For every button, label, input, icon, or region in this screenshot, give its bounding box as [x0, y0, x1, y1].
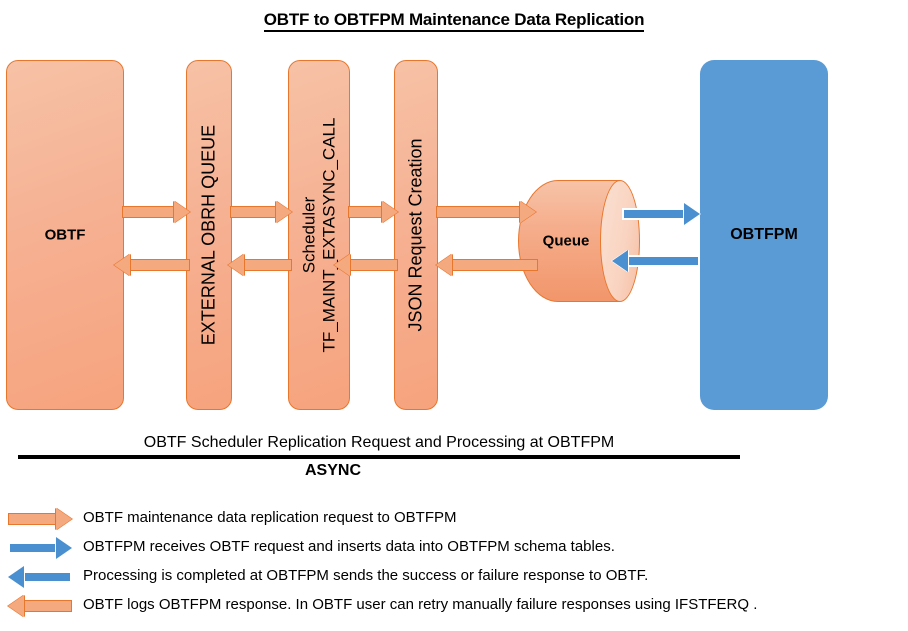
arrow-shaft	[230, 206, 278, 218]
node-obtf-label: OBTF	[45, 226, 86, 243]
node-queue-cylinder[interactable]: Queue	[518, 180, 640, 302]
arrow-scheduler-to-json	[348, 201, 398, 223]
arrow-head	[520, 201, 536, 223]
arrow-json-to-queue	[436, 201, 536, 223]
arrow-obtfpm-to-queue	[612, 250, 700, 272]
legend-item-label: OBTF maintenance data replication reques…	[83, 505, 457, 531]
node-obtf[interactable]: OBTF	[6, 60, 124, 410]
arrow-head	[56, 508, 72, 530]
orange-right-arrow-icon	[8, 508, 72, 530]
arrow-shaft	[450, 259, 538, 271]
arrow-shaft	[348, 206, 384, 218]
arrow-shaft	[22, 600, 72, 612]
arrow-shaft	[348, 259, 398, 271]
node-queue-label: Queue	[543, 233, 590, 250]
arrow-head	[8, 595, 24, 617]
legend-item-label: OBTF logs OBTFPM response. In OBTF user …	[83, 592, 757, 618]
arrow-shaft	[436, 206, 522, 218]
arrow-shaft	[8, 513, 58, 525]
caption-divider	[18, 455, 740, 459]
legend-item: OBTFPM receives OBTF request and inserts…	[0, 534, 908, 563]
arrow-shaft	[8, 542, 58, 554]
blue-left-arrow-icon	[8, 566, 72, 588]
arrow-head	[612, 250, 628, 272]
legend-item: OBTF maintenance data replication reques…	[0, 505, 908, 534]
node-scheduler-label-line1: Scheduler	[299, 197, 318, 274]
node-obtfpm-label: OBTFPM	[730, 226, 798, 244]
node-scheduler[interactable]: Scheduler TF_MAINT_EXTASYNC_CALL	[288, 60, 350, 410]
arrow-head	[56, 537, 72, 559]
node-json-request-creation[interactable]: JSON Request Creation	[394, 60, 438, 410]
arrow-json-to-scheduler	[334, 254, 398, 276]
node-external-obrh-queue-label: EXTERNAL OBRH QUEUE	[199, 125, 220, 345]
node-scheduler-label-line2: TF_MAINT_EXTASYNC_CALL	[319, 118, 338, 353]
arrow-obrh-to-obtf	[114, 254, 190, 276]
legend-item: Processing is completed at OBTFPM sends …	[0, 563, 908, 592]
arrow-queue-to-obtfpm	[622, 203, 700, 225]
arrow-obtf-to-obrh	[122, 201, 190, 223]
arrow-shaft	[622, 208, 686, 220]
legend: OBTF maintenance data replication reques…	[0, 505, 908, 621]
node-external-obrh-queue[interactable]: EXTERNAL OBRH QUEUE	[186, 60, 232, 410]
arrow-head	[8, 566, 24, 588]
arrow-head	[684, 203, 700, 225]
arrow-head	[276, 201, 292, 223]
arrow-shaft	[122, 206, 176, 218]
caption-primary: OBTF Scheduler Replication Request and P…	[18, 434, 740, 452]
queue-cylinder-cap	[600, 180, 640, 302]
blue-right-arrow-icon	[8, 537, 72, 559]
arrow-shaft	[128, 259, 190, 271]
page-title-text: OBTF to OBTFPM Maintenance Data Replicat…	[264, 10, 645, 32]
legend-item-label: OBTFPM receives OBTF request and inserts…	[83, 534, 615, 560]
arrow-head	[114, 254, 130, 276]
caption-secondary: ASYNC	[18, 462, 648, 480]
arrow-shaft	[626, 255, 700, 267]
arrow-head	[334, 254, 350, 276]
arrow-obrh-to-scheduler	[230, 201, 292, 223]
page-title: OBTF to OBTFPM Maintenance Data Replicat…	[0, 10, 908, 30]
node-json-request-creation-label: JSON Request Creation	[406, 138, 427, 331]
arrow-head	[174, 201, 190, 223]
arrow-head	[228, 254, 244, 276]
node-scheduler-label: Scheduler TF_MAINT_EXTASYNC_CALL	[299, 118, 338, 353]
arrow-head	[436, 254, 452, 276]
legend-item: OBTF logs OBTFPM response. In OBTF user …	[0, 592, 908, 621]
arrow-shaft	[242, 259, 292, 271]
arrow-shaft	[22, 571, 72, 583]
arrow-queue-to-json	[436, 254, 538, 276]
arrow-head	[382, 201, 398, 223]
orange-left-arrow-icon	[8, 595, 72, 617]
arrow-scheduler-to-obrh	[228, 254, 292, 276]
legend-item-label: Processing is completed at OBTFPM sends …	[83, 563, 648, 589]
node-obtfpm[interactable]: OBTFPM	[700, 60, 828, 410]
